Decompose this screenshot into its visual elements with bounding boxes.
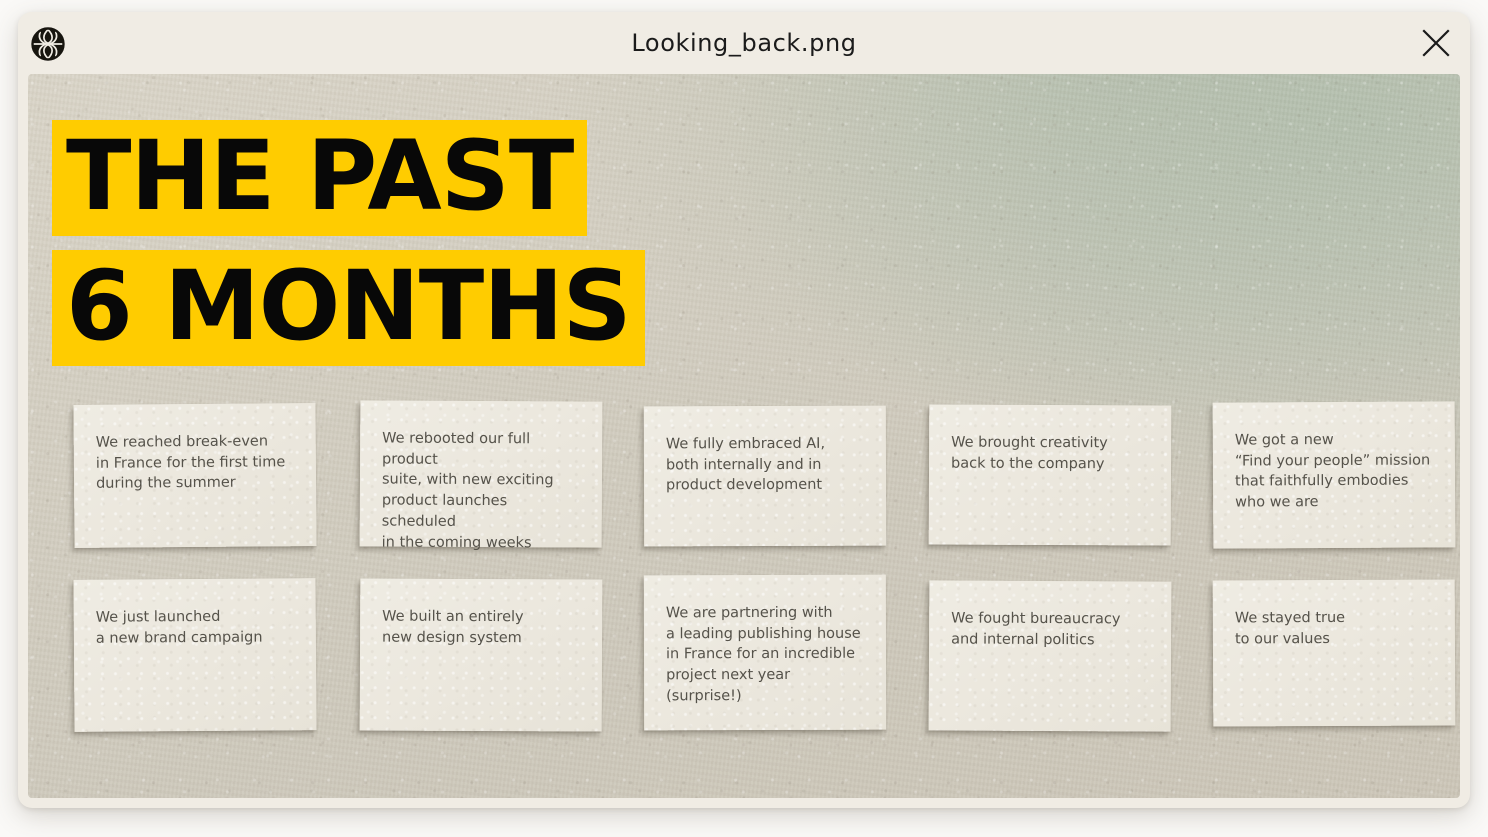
headline: THE PAST 6 MONTHS <box>52 120 645 366</box>
achievement-card: We stayed true to our values <box>1213 579 1456 726</box>
card-row-1: We reached break-even in France for the … <box>28 404 1460 548</box>
card-text: We rebooted our full product suite, with… <box>382 428 583 553</box>
achievement-card: We reached break-even in France for the … <box>73 403 316 548</box>
window-titlebar: Looking_back.png <box>18 12 1470 74</box>
achievement-card: We built an entirely new design system <box>360 578 603 731</box>
headline-line-2: 6 MONTHS <box>52 250 645 366</box>
achievement-card: We rebooted our full product suite, with… <box>360 400 603 547</box>
window-title: Looking_back.png <box>18 29 1470 57</box>
card-text: We just launched a new brand campaign <box>96 606 296 649</box>
card-text: We reached break-even in France for the … <box>96 431 296 495</box>
shell-emblem-icon <box>30 26 66 62</box>
achievement-card: We fully embraced AI, both internally an… <box>644 406 886 547</box>
card-text: We brought creativity back to the compan… <box>951 433 1151 475</box>
card-row-2: We just launched a new brand campaign We… <box>28 579 1460 731</box>
achievement-card: We brought creativity back to the compan… <box>929 404 1172 545</box>
card-text: We stayed true to our values <box>1235 608 1435 650</box>
card-text: We fully embraced AI, both internally an… <box>666 434 866 497</box>
achievement-card: We just launched a new brand campaign <box>73 578 316 732</box>
card-text: We fought bureaucracy and internal polit… <box>951 608 1151 651</box>
achievement-card: We got a new “Find your people” mission … <box>1213 401 1456 548</box>
card-text: We got a new “Find your people” mission … <box>1235 429 1435 513</box>
card-text: We are partnering with a leading publish… <box>666 603 866 707</box>
image-viewer-window: Looking_back.png THE PAST 6 MONTHS We re… <box>18 12 1470 808</box>
achievement-card: We are partnering with a leading publish… <box>644 575 886 731</box>
slide-image: THE PAST 6 MONTHS We reached break-even … <box>28 74 1460 798</box>
headline-line-1: THE PAST <box>52 120 587 236</box>
card-text: We built an entirely new design system <box>382 607 582 649</box>
close-icon[interactable] <box>1418 25 1454 61</box>
achievement-card: We fought bureaucracy and internal polit… <box>929 580 1172 731</box>
